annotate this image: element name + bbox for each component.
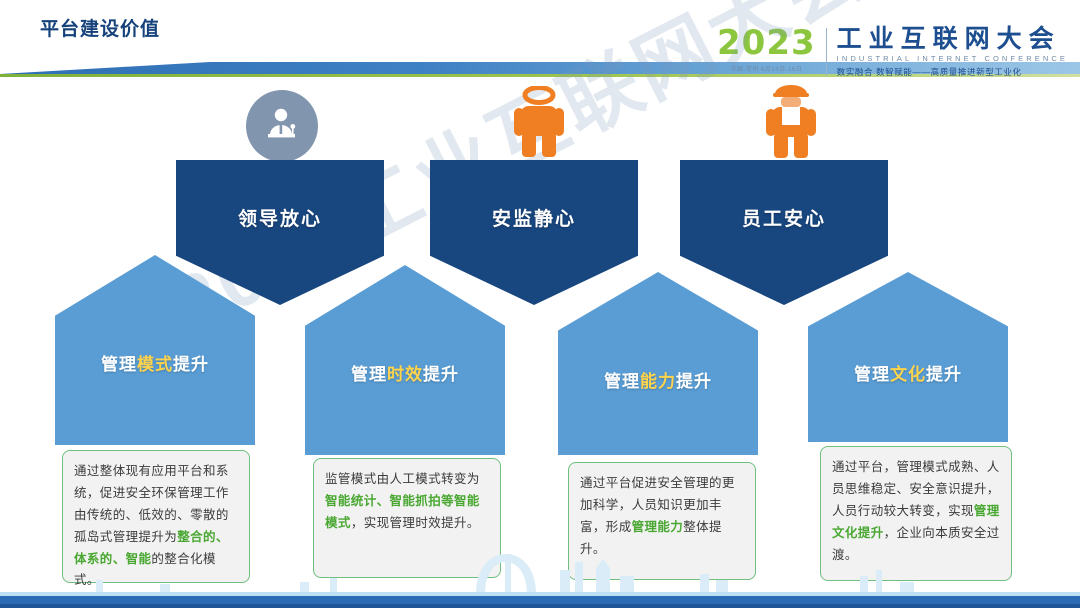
house-label-highlight: 能力 xyxy=(640,372,676,391)
navy-block-label: 员工安心 xyxy=(742,204,826,305)
house-label-post: 提升 xyxy=(926,365,962,384)
house-label: 管理文化提升 xyxy=(854,360,962,442)
logo-name-cn: 工业互联网大会 xyxy=(837,26,1068,52)
house-label-highlight: 文化 xyxy=(890,365,926,384)
logo-separator xyxy=(826,28,827,76)
house-management-timeliness[interactable]: 管理时效提升 xyxy=(305,265,505,455)
description-card-1: 通过整体现有应用平台和系统，促进安全环保管理工作由传统的、低效的、零散的孤岛式管… xyxy=(62,450,250,583)
navy-block-label: 领导放心 xyxy=(238,204,322,305)
icon-safety-supervisor xyxy=(508,86,570,163)
logo-location: 中国·常州 6月14日-16日 xyxy=(730,64,802,73)
logo-text-block: 工业互联网大会 INDUSTRIAL INTERNET CONFERENCE 数… xyxy=(837,26,1068,78)
house-label-highlight: 时效 xyxy=(387,365,423,384)
navy-block-leader[interactable]: 领导放心 xyxy=(176,160,384,305)
house-label-pre: 管理 xyxy=(604,372,640,391)
house-label: 管理时效提升 xyxy=(351,360,459,455)
house-management-culture[interactable]: 管理文化提升 xyxy=(808,272,1008,442)
house-label-post: 提升 xyxy=(173,355,209,374)
house-management-capability[interactable]: 管理能力提升 xyxy=(558,272,758,455)
card-text-run: ，实现管理时效提升。 xyxy=(351,516,480,530)
slide-canvas: 平台建设价值 2023 中国·常州 6月14日-16日 工业互联网大会 INDU… xyxy=(0,0,1080,608)
navy-block-label: 安监静心 xyxy=(492,204,576,305)
house-label: 管理模式提升 xyxy=(101,350,209,445)
house-label-pre: 管理 xyxy=(101,355,137,374)
house-management-mode[interactable]: 管理模式提升 xyxy=(55,255,255,445)
page-title: 平台建设价值 xyxy=(40,14,160,41)
house-label: 管理能力提升 xyxy=(604,367,712,455)
logo-year: 2023 xyxy=(717,26,816,60)
house-label-pre: 管理 xyxy=(854,365,890,384)
description-card-3: 通过平台促进安全管理的更加科学，人员知识更加丰富，形成管理能力整体提升。 xyxy=(568,462,756,580)
navy-block-worker[interactable]: 员工安心 xyxy=(680,160,888,305)
leader-podium-icon xyxy=(246,90,318,162)
logo-tagline: 数实融合 数智赋能——高质量推进新型工业化 xyxy=(837,66,1068,78)
description-card-2: 监管模式由人工模式转变为智能统计、智能抓拍等智能模式，实现管理时效提升。 xyxy=(313,458,501,578)
overalls-figure-icon xyxy=(760,80,822,158)
description-card-4: 通过平台，管理模式成熟、人员思维稳定、安全意识提升，人员行动较大转变，实现管理文… xyxy=(820,446,1012,581)
house-label-post: 提升 xyxy=(676,372,712,391)
house-label-post: 提升 xyxy=(423,365,459,384)
icon-worker xyxy=(760,80,822,163)
icon-leader xyxy=(246,90,318,162)
logo-year-block: 2023 中国·常州 6月14日-16日 xyxy=(717,26,826,73)
house-label-highlight: 模式 xyxy=(137,355,173,374)
conference-logo: 2023 中国·常州 6月14日-16日 工业互联网大会 INDUSTRIAL … xyxy=(717,26,1068,78)
hardhat-figure-icon xyxy=(508,86,570,158)
navy-block-supervisor[interactable]: 安监静心 xyxy=(430,160,638,305)
house-label-pre: 管理 xyxy=(351,365,387,384)
card-text-run: 监管模式由人工模式转变为 xyxy=(325,472,480,486)
card-text-highlight: 管理能力 xyxy=(632,520,684,534)
logo-name-en: INDUSTRIAL INTERNET CONFERENCE xyxy=(837,54,1068,63)
